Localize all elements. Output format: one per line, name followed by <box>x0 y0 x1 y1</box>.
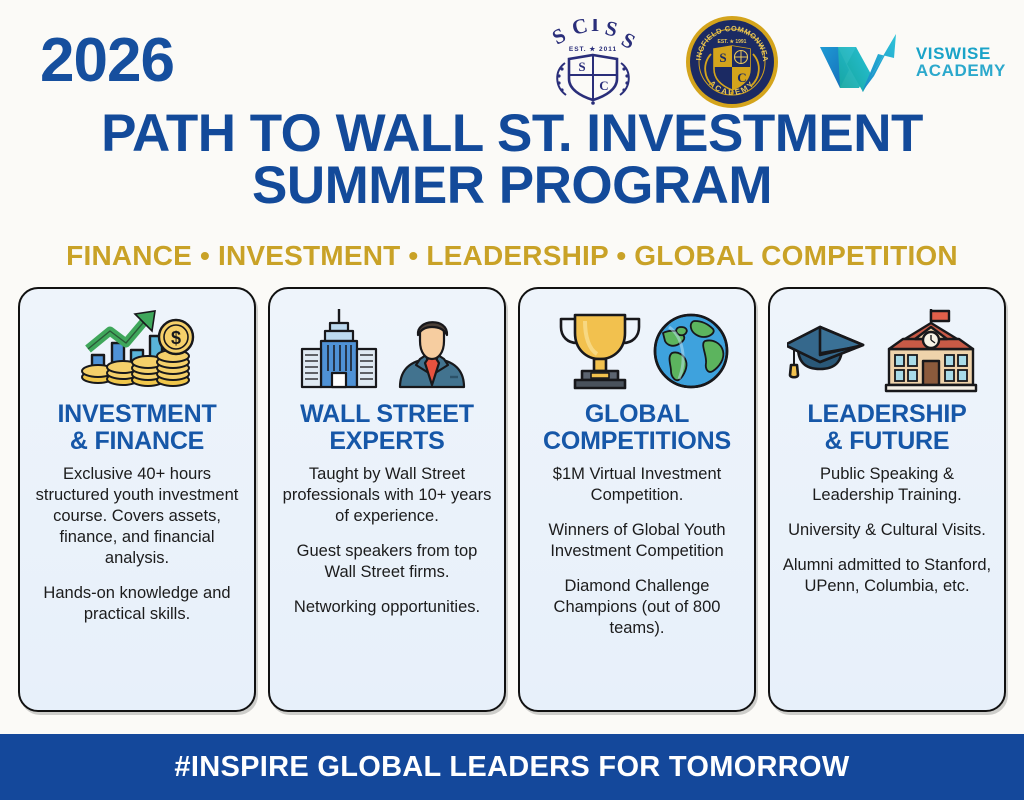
card-paragraph: $1M Virtual Investment Competition. <box>530 464 744 506</box>
card-body: $1M Virtual Investment Competition. Winn… <box>530 464 744 640</box>
card-paragraph: Networking opportunities. <box>280 597 494 618</box>
card-title: GLOBAL COMPETITIONS <box>543 401 731 455</box>
building-businessman-icon <box>292 305 482 393</box>
viswise-line2: ACADEMY <box>916 62 1006 79</box>
card-icons <box>539 303 735 395</box>
subtitle-tagline: FINANCE • INVESTMENT • LEADERSHIP • GLOB… <box>0 240 1024 272</box>
sciss-logo: S C I S S EST. ★ 2011 S C <box>538 19 648 105</box>
card-body: Taught by Wall Street professionals with… <box>280 464 494 619</box>
svg-text:EST. ★ 2011: EST. ★ 2011 <box>569 45 617 53</box>
svg-text:EST. ★ 1991: EST. ★ 1991 <box>717 39 746 45</box>
feature-card-row: $ INVESTMENT & FINANCE Exclusive 40+ hou… <box>18 287 1006 712</box>
page-title: PATH TO WALL ST. INVESTMENT SUMMER PROGR… <box>0 108 1024 213</box>
viswise-w-arrow-icon <box>816 30 908 94</box>
viswise-line1: VISWISE <box>916 45 1006 62</box>
card-title: WALL STREET EXPERTS <box>300 401 474 455</box>
logo-row: S C I S S EST. ★ 2011 S C <box>538 14 1006 110</box>
card-paragraph: Public Speaking & Leadership Training. <box>780 464 994 506</box>
footer-slogan: #INSPIRE GLOBAL LEADERS FOR TOMORROW <box>174 751 849 784</box>
svg-text:S: S <box>578 59 585 74</box>
card-paragraph: Exclusive 40+ hours structured youth inv… <box>30 464 244 570</box>
svg-text:I: I <box>591 19 599 36</box>
card-wall-street-experts: WALL STREET EXPERTS Taught by Wall Stree… <box>268 287 506 712</box>
svg-text:C: C <box>569 19 590 40</box>
svg-text:S: S <box>719 50 726 65</box>
card-icons: $ <box>76 303 198 395</box>
card-paragraph: Taught by Wall Street professionals with… <box>280 464 494 527</box>
title-line-1: PATH TO WALL ST. INVESTMENT <box>26 108 998 160</box>
card-title-line-2: & FUTURE <box>825 427 950 455</box>
card-title: INVESTMENT & FINANCE <box>57 401 216 455</box>
poster-root: S C I S S EST. ★ 2011 S C <box>0 0 1024 800</box>
svg-text:S: S <box>548 23 570 50</box>
graduation-school-icon <box>787 305 987 393</box>
card-paragraph: Winners of Global Youth Investment Compe… <box>530 520 744 562</box>
card-paragraph: University & Cultural Visits. <box>780 520 994 541</box>
card-investment-finance: $ INVESTMENT & FINANCE Exclusive 40+ hou… <box>18 287 256 712</box>
viswise-academy-logo: VISWISE ACADEMY <box>816 30 1006 94</box>
card-paragraph: Diamond Challenge Champions (out of 800 … <box>530 576 744 639</box>
card-body: Public Speaking & Leadership Training. U… <box>780 464 994 598</box>
card-title-line-2: EXPERTS <box>329 427 444 455</box>
card-title: LEADERSHIP & FUTURE <box>807 401 966 455</box>
viswise-wordmark: VISWISE ACADEMY <box>916 45 1006 80</box>
card-title-line-2: & FINANCE <box>70 427 204 455</box>
card-icons <box>787 303 987 395</box>
card-icons <box>292 303 482 395</box>
card-global-competitions: GLOBAL COMPETITIONS $1M Virtual Investme… <box>518 287 756 712</box>
card-paragraph: Guest speakers from top Wall Street firm… <box>280 541 494 583</box>
card-title-line-1: INVESTMENT <box>57 400 216 428</box>
title-line-2: SUMMER PROGRAM <box>26 160 998 212</box>
card-title-line-1: LEADERSHIP <box>807 400 966 428</box>
svg-text:S: S <box>603 19 620 42</box>
trophy-globe-icon <box>539 305 735 393</box>
springfield-seal-icon: SPRINGFIELD COMMONWEALTH ACADEMY EST. ★ … <box>684 14 780 110</box>
svg-text:$: $ <box>171 328 181 348</box>
card-title-line-2: COMPETITIONS <box>543 427 731 455</box>
svg-text:S: S <box>617 27 639 54</box>
card-leadership-future: LEADERSHIP & FUTURE Public Speaking & Le… <box>768 287 1006 712</box>
footer-banner: #INSPIRE GLOBAL LEADERS FOR TOMORROW <box>0 734 1024 800</box>
card-body: Exclusive 40+ hours structured youth inv… <box>30 464 244 626</box>
sciss-shield-icon: S C I S S EST. ★ 2011 S C <box>538 19 648 105</box>
year-heading: 2026 <box>40 30 174 92</box>
springfield-commonwealth-academy-logo: SPRINGFIELD COMMONWEALTH ACADEMY EST. ★ … <box>684 14 780 110</box>
svg-text:C: C <box>599 78 608 93</box>
card-title-line-1: WALL STREET <box>300 400 474 428</box>
growth-chart-coins-icon: $ <box>76 305 198 393</box>
svg-text:C: C <box>737 70 746 85</box>
card-paragraph: Alumni admitted to Stanford, UPenn, Colu… <box>780 555 994 597</box>
card-paragraph: Hands-on knowledge and practical skills. <box>30 583 244 625</box>
card-title-line-1: GLOBAL <box>585 400 689 428</box>
